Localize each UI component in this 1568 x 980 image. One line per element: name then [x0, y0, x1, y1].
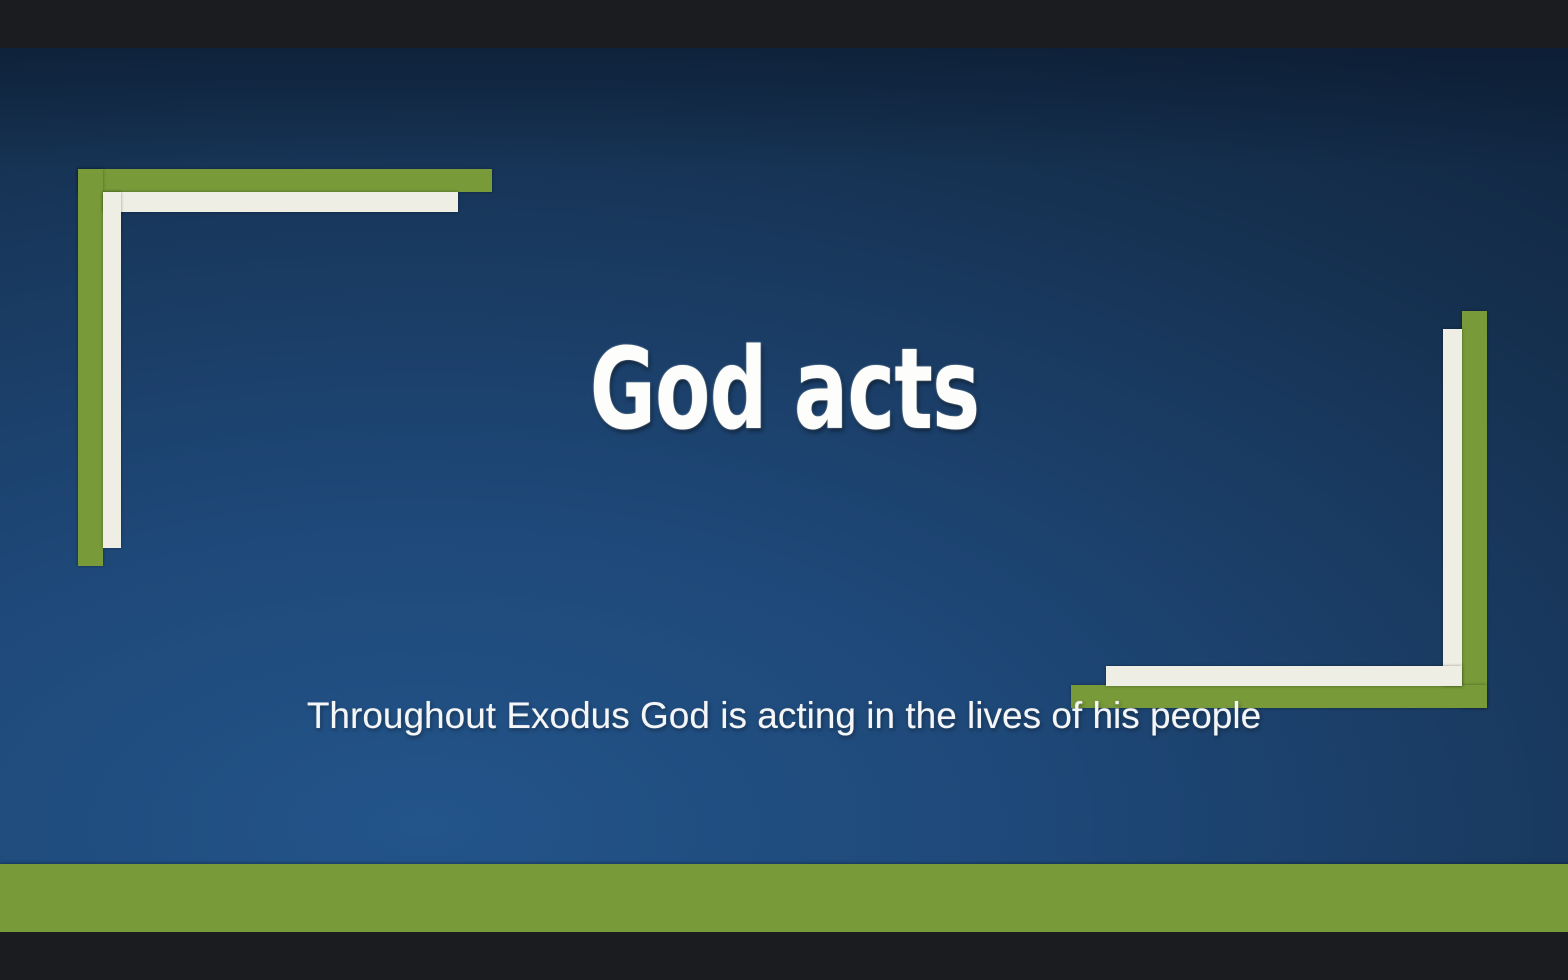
bottom-accent-band: [0, 864, 1568, 932]
slide-canvas: God acts Throughout Exodus God is acting…: [0, 48, 1568, 932]
bracket-cream-horizontal-bar: [103, 192, 458, 212]
letterbox-bottom: [0, 932, 1568, 980]
presentation-viewport: God acts Throughout Exodus God is acting…: [0, 0, 1568, 980]
bracket-green-horizontal-bar: [78, 169, 492, 192]
bracket-cream-horizontal-bar: [1106, 666, 1462, 686]
slide-title: God acts: [589, 331, 979, 449]
subtitle-placeholder: Throughout Exodus God is acting in the l…: [0, 693, 1568, 739]
letterbox-top: [0, 0, 1568, 48]
title-placeholder: God acts: [0, 331, 1568, 449]
slide-subtitle: Throughout Exodus God is acting in the l…: [307, 693, 1261, 739]
